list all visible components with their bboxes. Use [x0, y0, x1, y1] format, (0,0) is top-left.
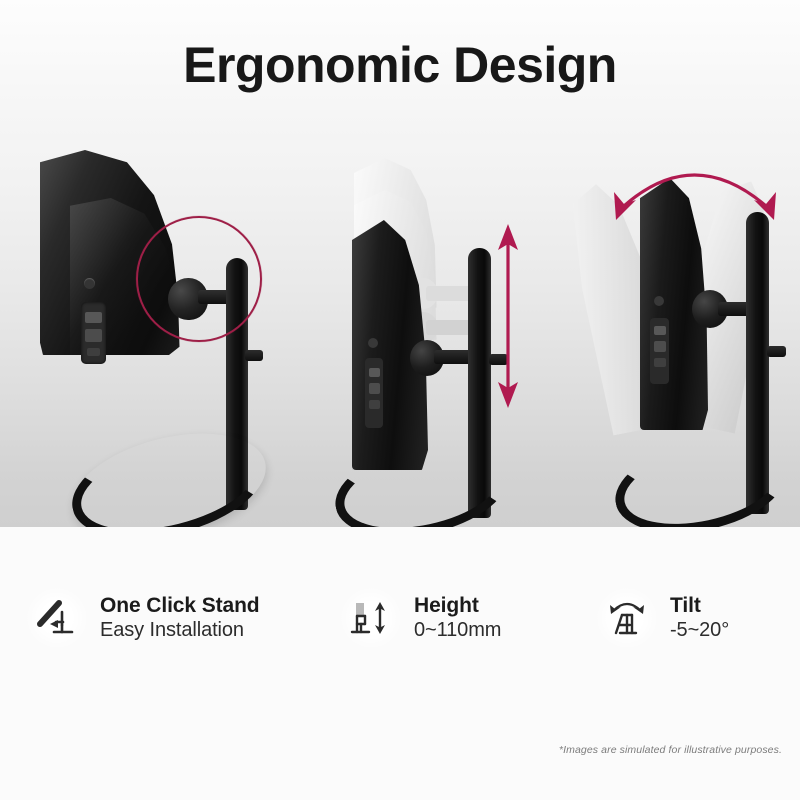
feature-height: Height 0~110mm [340, 587, 590, 649]
feature-one-click-stand: One Click Stand Easy Installation [26, 587, 326, 649]
page-title: Ergonomic Design [0, 36, 800, 94]
height-arrow-annotation [330, 150, 580, 520]
port-cluster [81, 302, 106, 364]
feature-title: Height [414, 594, 501, 619]
arrow-head-right [754, 192, 776, 220]
highlight-circle-annotation [136, 216, 262, 342]
product-feature-page: Ergonomic Design [0, 0, 800, 800]
port-usb [87, 348, 100, 356]
feature-footer: One Click Stand Easy Installation [0, 527, 800, 800]
feature-value: 0~110mm [414, 619, 501, 643]
tilt-scene [600, 150, 800, 520]
one-click-stand-scene [40, 150, 310, 520]
disclaimer-text: *Images are simulated for illustrative p… [559, 744, 782, 756]
tilt-icon [596, 587, 658, 649]
feature-value: Easy Installation [100, 619, 260, 643]
feature-value: -5~20° [670, 619, 729, 643]
monitor-rear-view-illustration [40, 150, 190, 355]
port-displayport [85, 329, 102, 342]
stand-column-knob [245, 350, 263, 361]
one-click-stand-icon [26, 587, 88, 649]
feature-title: One Click Stand [100, 594, 260, 619]
feature-text: Height 0~110mm [414, 594, 501, 642]
feature-text: Tilt -5~20° [670, 594, 729, 642]
hero-section: Ergonomic Design [0, 0, 800, 527]
power-button-icon [84, 278, 95, 289]
height-adjust-scene [330, 150, 580, 520]
port-hdmi [85, 312, 102, 323]
feature-list: One Click Stand Easy Installation [0, 587, 800, 649]
height-adjust-icon [340, 587, 402, 649]
tilt-arrow-annotation [590, 150, 790, 520]
arrow-head-left [614, 192, 636, 220]
feature-tilt: Tilt -5~20° [596, 587, 786, 649]
feature-text: One Click Stand Easy Installation [100, 594, 260, 642]
feature-title: Tilt [670, 594, 729, 619]
